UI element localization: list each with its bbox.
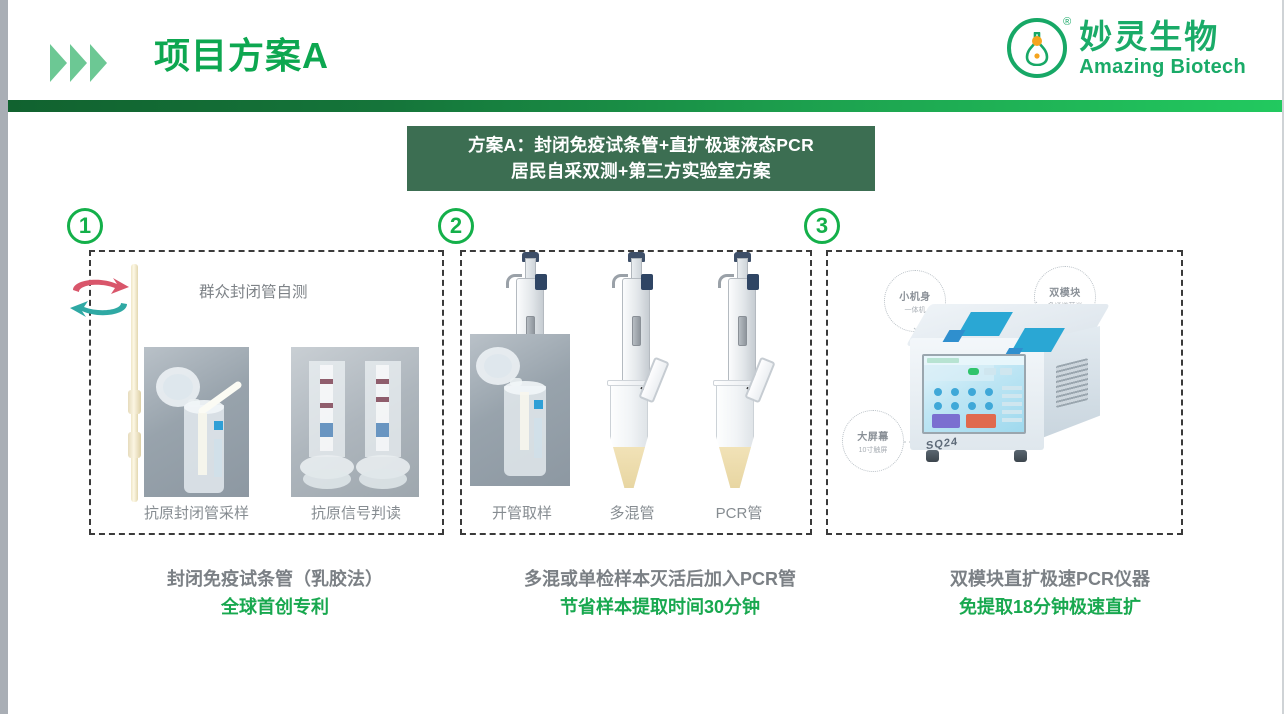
open-tube-sampling-photo (470, 334, 570, 486)
company-logo: ® 妙灵生物 Amazing Biotech (1005, 16, 1246, 80)
banner-line-2: 居民自采双测+第三方实验室方案 (511, 159, 771, 184)
logo-name-en: Amazing Biotech (1079, 57, 1246, 77)
step-2-footer: 多混或单检样本灭活后加入PCR管 节省样本提取时间30分钟 (440, 565, 880, 621)
slide-root: 项目方案A ® 妙灵生物 Amazing Biotech 方案A：封闭免疫试条管… (0, 0, 1284, 714)
registered-trademark-mark: ® (1063, 16, 1071, 28)
flask-glyph (1024, 32, 1050, 66)
scheme-banner: 方案A：封闭免疫试条管+直扩极速液态PCR 居民自采双测+第三方实验室方案 (407, 126, 875, 191)
callout-big-screen: 大屏幕 10寸触屏 (842, 410, 904, 472)
step-1-footer-highlight: 全球首创专利 (60, 594, 490, 621)
step-1-footer: 封闭免疫试条管（乳胶法） 全球首创专利 (60, 565, 490, 621)
step-badge-2: 2 (438, 208, 474, 244)
antigen-sampling-photo (144, 347, 249, 497)
banner-line-1: 方案A：封闭免疫试条管+直扩极速液态PCR (468, 133, 814, 158)
step-badge-1: 1 (67, 208, 103, 244)
step-1-headline: 群众封闭管自测 (199, 280, 308, 302)
step-2-photo-caption-2: 多混管 (595, 502, 669, 523)
step-3-content-box: 小机身 一体机 双模块 多通道荧光 大屏幕 (826, 250, 1183, 535)
step-panel-3: 3 小机身 一体机 双模块 多通道荧光 (826, 205, 1183, 535)
multi-mix-tube-illustration (610, 380, 662, 490)
rotate-arrows-icon (65, 270, 137, 326)
step-3-footer: 双模块直扩极速PCR仪器 免提取18分钟极速直扩 (840, 565, 1260, 621)
step-2-content-box: 开管取样 多混管 PCR管 (460, 250, 812, 535)
step-2-footer-highlight: 节省样本提取时间30分钟 (440, 594, 880, 621)
triple-chevron-right-icon (50, 44, 107, 82)
step-3-footer-title: 双模块直扩极速PCR仪器 (840, 565, 1260, 594)
step-badge-3: 3 (804, 208, 840, 244)
pcr-tube-illustration (716, 380, 768, 490)
step-1-photo-caption-1: 抗原封闭管采样 (109, 502, 284, 523)
step-1-photo-caption-2: 抗原信号判读 (281, 502, 431, 523)
step-panel-2: 2 (460, 205, 812, 535)
step-2-photo-caption-1: 开管取样 (480, 502, 564, 523)
header-divider-bar (8, 100, 1282, 112)
pcr-instrument-illustration: SQ24 (910, 304, 1106, 454)
step-panel-1: 1 群众封闭管自测 (89, 205, 444, 535)
left-edge-strip (0, 0, 8, 714)
logo-name-cn: 妙灵生物 (1079, 20, 1246, 53)
step-3-footer-highlight: 免提取18分钟极速直扩 (840, 594, 1260, 621)
step-2-footer-title: 多混或单检样本灭活后加入PCR管 (440, 565, 880, 594)
slide-header: 项目方案A ® 妙灵生物 Amazing Biotech (8, 0, 1282, 98)
flask-in-circle-logo-icon: ® (1005, 16, 1069, 80)
antigen-readout-photo (291, 347, 419, 497)
step-1-footer-title: 封闭免疫试条管（乳胶法） (60, 565, 490, 594)
step-1-content-box: 群众封闭管自测 (89, 250, 444, 535)
page-title: 项目方案A (154, 36, 329, 76)
step-2-photo-caption-3: PCR管 (701, 502, 777, 523)
